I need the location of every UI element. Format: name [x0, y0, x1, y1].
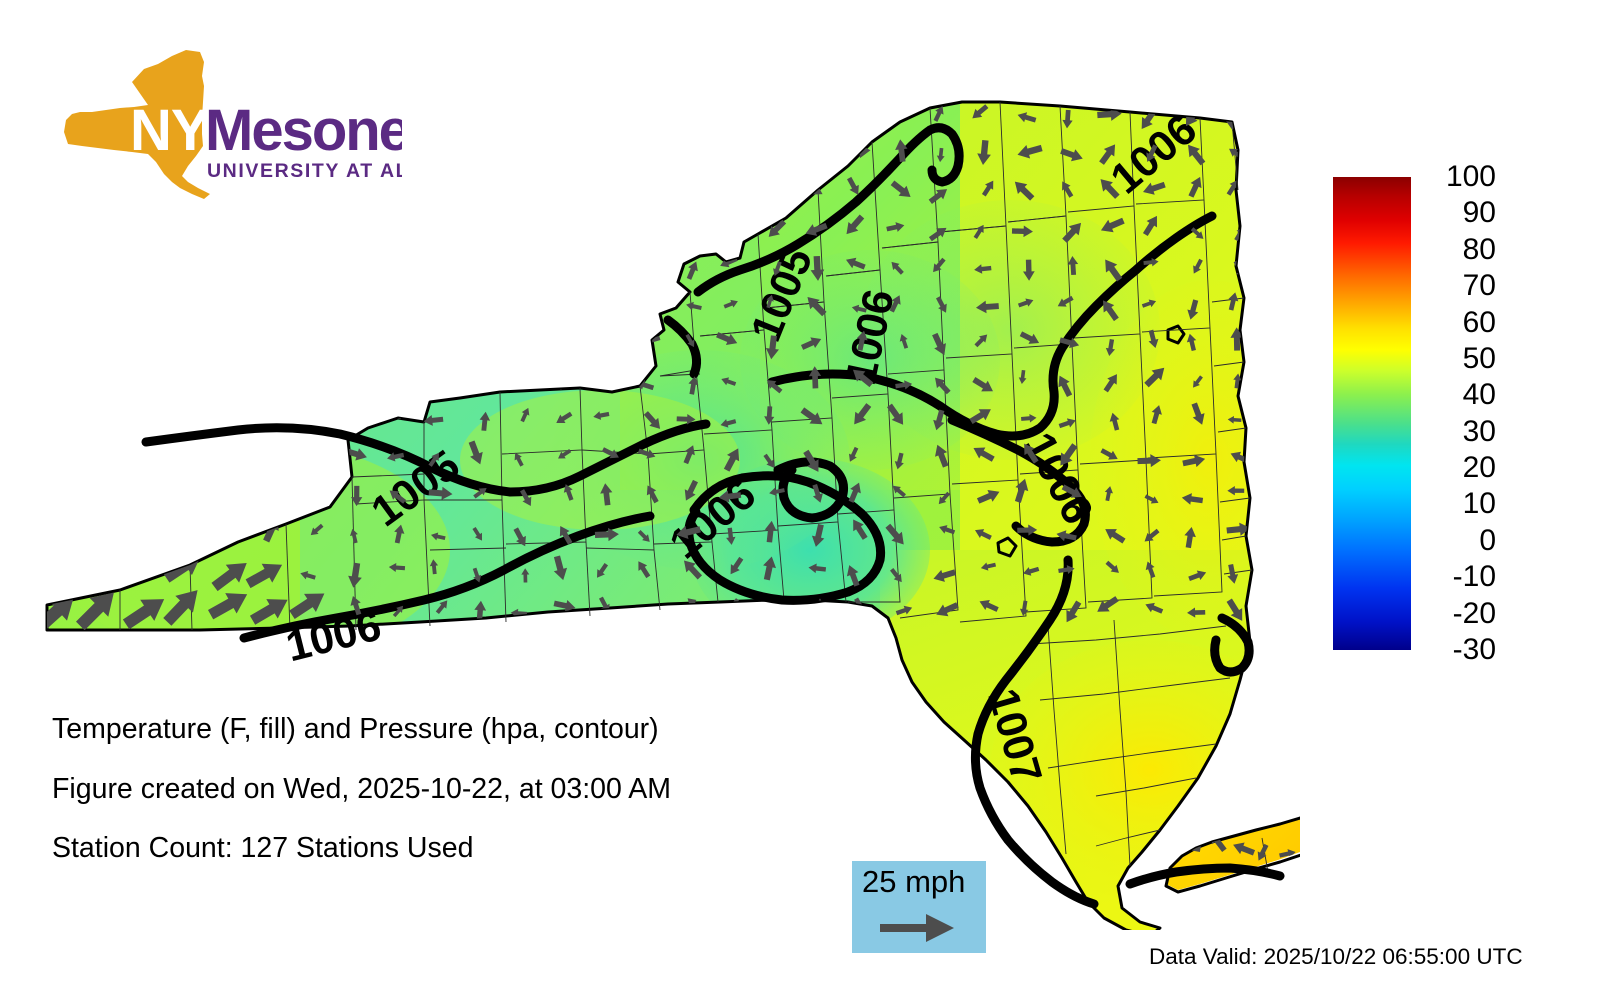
wind-arrow-icon	[216, 177, 237, 212]
wind-arrow-icon	[467, 291, 485, 309]
colorbar-tick: 10	[1422, 489, 1496, 519]
wind-arrow-icon	[92, 251, 118, 282]
wind-arrow-icon	[519, 179, 534, 203]
wind-arrow-icon	[719, 102, 739, 127]
caption-title-line: Temperature (F, fill) and Pressure (hpa,…	[52, 715, 832, 744]
wind-arrow-icon	[637, 147, 656, 160]
wind-arrow-icon	[257, 404, 283, 438]
wind-arrow-icon	[131, 212, 149, 240]
colorbar-tick: 40	[1422, 380, 1496, 410]
wind-arrow-icon	[81, 508, 125, 553]
wind-arrow-icon	[96, 441, 113, 467]
wind-arrow-icon	[170, 175, 194, 210]
wind-arrow-icon	[464, 366, 489, 391]
wind-arrow-icon	[212, 404, 234, 430]
wind-arrow-icon	[720, 148, 738, 164]
wind-arrow-icon	[518, 105, 533, 130]
wind-arrow-icon	[178, 479, 195, 504]
temperature-colorbar	[1333, 177, 1411, 650]
wind-arrow-icon	[596, 109, 610, 127]
wind-arrow-icon	[515, 219, 529, 238]
wind-arrow-icon	[220, 216, 238, 244]
wind-arrow-icon	[263, 478, 282, 503]
colorbar-tick: -20	[1422, 599, 1496, 629]
colorbar-tick: 80	[1422, 235, 1496, 265]
wind-arrow-icon	[647, 294, 656, 309]
wind-arrow-icon	[167, 100, 198, 136]
wind-arrow-icon	[341, 331, 359, 356]
wind-arrow-icon	[257, 443, 280, 476]
wind-arrow-icon	[168, 248, 197, 284]
wind-arrow-icon	[603, 295, 619, 313]
colorbar-tick: 60	[1422, 308, 1496, 338]
colorbar-tick: 0	[1422, 526, 1496, 556]
wind-arrow-icon	[176, 329, 201, 356]
wind-arrow-icon	[638, 182, 652, 202]
wind-arrow-icon	[806, 146, 829, 166]
wind-arrow-icon	[303, 330, 322, 355]
wind-arrow-icon	[638, 263, 656, 274]
wind-arrow-icon	[679, 108, 693, 125]
wind-arrow-icon	[135, 367, 156, 396]
wind-arrow-icon	[178, 364, 197, 396]
wind-arrow-icon	[346, 138, 366, 164]
wind-arrow-icon	[562, 107, 575, 126]
wind-arrow-icon	[88, 478, 108, 511]
data-valid-timestamp: Data Valid: 2025/10/22 06:55:00 UTC	[1149, 944, 1523, 970]
wind-arrow-icon	[216, 324, 241, 358]
wind-arrow-icon	[54, 482, 70, 509]
wind-arrow-icon	[428, 325, 452, 351]
wind-arrow-icon	[258, 288, 278, 321]
wind-arrow-icon	[599, 263, 622, 278]
wind-arrow-icon	[50, 328, 80, 361]
wind-arrow-icon	[300, 254, 325, 276]
wind-arrow-icon	[385, 220, 408, 237]
wind-arrow-icon	[433, 376, 444, 393]
wind-arrow-icon	[259, 169, 283, 204]
wind-arrow-icon	[90, 325, 107, 354]
wind-arrow-icon	[558, 332, 577, 344]
wind-arrow-icon	[43, 254, 66, 284]
wind-arrow-icon	[220, 365, 238, 390]
wind-arrow-icon	[47, 442, 67, 470]
colorbar-gradient	[1333, 177, 1411, 650]
wind-arrow-icon	[252, 96, 281, 130]
colorbar-tick: 90	[1422, 198, 1496, 228]
wind-arrow-icon	[91, 367, 108, 397]
wind-arrow-icon	[46, 216, 65, 246]
wind-arrow-icon	[602, 332, 619, 347]
wind-arrow-icon	[89, 296, 113, 323]
wind-arrow-icon	[177, 136, 198, 168]
wind-arrow-icon	[343, 292, 361, 311]
wind-arrow-icon	[847, 103, 863, 121]
wind-arrow-icon	[766, 104, 790, 126]
wind-arrow-icon	[304, 182, 315, 200]
wind-arrow-icon	[721, 219, 747, 242]
wind-arrow-icon	[351, 415, 362, 431]
wind-arrow-icon	[549, 150, 570, 164]
wind-arrow-icon	[552, 177, 577, 195]
colorbar-tick: -10	[1422, 562, 1496, 592]
wind-arrow-icon	[469, 106, 484, 124]
wind-arrow-icon	[43, 284, 77, 321]
wind-arrow-icon	[558, 289, 578, 313]
wind-arrow-icon	[252, 139, 280, 176]
wind-arrow-icon	[553, 255, 576, 270]
wind-arrow-icon	[469, 253, 488, 271]
wind-arrow-icon	[297, 488, 323, 508]
wind-arrow-icon	[429, 106, 442, 123]
wind-arrow-icon	[511, 369, 537, 385]
wind-arrow-icon	[172, 218, 196, 245]
wind-arrow-icon	[725, 178, 738, 199]
wind-arrow-icon	[593, 225, 611, 242]
wind-arrow-icon	[212, 248, 241, 281]
wind-arrow-icon	[634, 110, 656, 123]
wind-arrow-icon	[383, 370, 409, 393]
wind-arrow-icon	[32, 512, 78, 559]
wind-arrow-icon	[388, 251, 412, 276]
wind-arrow-icon	[684, 213, 701, 239]
wind-arrow-icon	[33, 550, 84, 600]
wind-arrow-icon	[294, 442, 320, 466]
wind-arrow-icon	[299, 142, 319, 159]
wind-reference-arrow-icon	[880, 911, 960, 945]
colorbar-tick-labels: 1009080706050403020100-10-20-30	[1422, 163, 1512, 673]
wind-arrow-icon	[341, 264, 360, 275]
wind-arrow-icon	[87, 176, 107, 204]
wind-arrow-icon	[472, 335, 485, 356]
wind-arrow-icon	[53, 398, 77, 431]
colorbar-tick: 70	[1422, 271, 1496, 301]
wind-arrow-icon	[383, 142, 401, 163]
wind-speed-legend-label: 25 mph	[862, 865, 965, 899]
wind-arrow-icon	[762, 183, 785, 199]
figure-caption: Temperature (F, fill) and Pressure (hpa,…	[52, 715, 832, 894]
caption-created-line: Figure created on Wed, 2025-10-22, at 03…	[52, 775, 832, 804]
wind-arrow-icon	[179, 292, 201, 321]
wind-arrow-icon	[392, 108, 411, 124]
wind-arrow-icon	[342, 222, 366, 243]
wind-arrow-icon	[599, 149, 611, 167]
wind-arrow-icon	[633, 222, 652, 240]
wind-arrow-icon	[214, 100, 234, 131]
caption-station-count-line: Station Count: 127 Stations Used	[52, 834, 832, 863]
wind-arrow-icon	[307, 106, 327, 131]
wind-arrow-icon	[88, 400, 111, 430]
wind-arrow-icon	[131, 174, 161, 212]
wind-arrow-icon	[214, 439, 240, 467]
wind-arrow-icon	[475, 182, 487, 202]
wind-arrow-icon	[134, 329, 162, 363]
wind-arrow-icon	[55, 176, 71, 205]
wind-arrow-icon	[303, 370, 322, 386]
wind-arrow-icon	[685, 174, 699, 199]
colorbar-tick: 20	[1422, 453, 1496, 483]
wind-arrow-icon	[506, 255, 531, 278]
wind-arrow-icon	[347, 181, 359, 202]
wind-arrow-icon	[56, 370, 73, 400]
wind-arrow-icon	[92, 107, 109, 133]
wind-arrow-icon	[135, 289, 159, 326]
wind-arrow-icon	[263, 216, 276, 238]
wind-arrow-icon	[121, 518, 167, 557]
wind-arrow-icon	[215, 141, 239, 168]
wind-arrow-icon	[161, 517, 206, 557]
wind-arrow-icon	[345, 99, 367, 122]
wind-arrow-icon	[591, 371, 614, 388]
wind-arrow-icon	[427, 146, 445, 158]
wind-arrow-icon	[469, 216, 486, 232]
wind-arrow-icon	[596, 178, 614, 203]
wind-arrow-icon	[423, 296, 450, 315]
colorbar-tick: 100	[1422, 162, 1496, 192]
wind-arrow-icon	[762, 602, 779, 614]
wind-arrow-icon	[134, 101, 149, 128]
wind-arrow-icon	[48, 93, 79, 129]
wind-arrow-icon	[132, 479, 157, 510]
wind-arrow-icon	[216, 477, 245, 513]
wind-arrow-icon	[432, 181, 446, 201]
wind-arrow-icon	[262, 327, 279, 353]
wind-arrow-icon	[759, 139, 780, 160]
wind-arrow-icon	[428, 224, 448, 238]
wind-arrow-icon	[130, 253, 157, 287]
wind-arrow-icon	[425, 259, 448, 273]
wind-arrow-icon	[94, 211, 115, 239]
wind-arrow-icon	[305, 402, 324, 426]
wind-arrow-icon	[344, 371, 369, 392]
wind-arrow-icon	[300, 298, 321, 312]
wind-arrow-icon	[681, 143, 702, 157]
colorbar-tick: -30	[1422, 635, 1496, 665]
wind-arrow-icon	[465, 144, 490, 160]
wind-arrow-icon	[551, 227, 576, 241]
colorbar-tick: 50	[1422, 344, 1496, 374]
wind-arrow-icon	[1157, 829, 1181, 857]
wind-arrow-icon	[515, 292, 528, 310]
wind-arrow-icon	[392, 330, 409, 346]
wind-arrow-icon	[513, 336, 526, 354]
wind-arrow-icon	[392, 301, 401, 317]
wind-arrow-icon	[392, 181, 410, 195]
wind-arrow-icon	[254, 254, 282, 285]
wind-arrow-icon	[47, 137, 76, 172]
colorbar-tick: 30	[1422, 417, 1496, 447]
wind-arrow-icon	[136, 400, 156, 431]
wind-arrow-icon	[132, 141, 154, 169]
wind-arrow-icon	[643, 607, 661, 621]
wind-arrow-icon	[812, 109, 829, 130]
wind-arrow-icon	[299, 222, 320, 236]
wind-speed-legend: 25 mph	[852, 861, 986, 953]
wind-arrow-icon	[85, 139, 116, 174]
wind-arrow-icon	[262, 371, 276, 395]
wind-arrow-icon	[216, 290, 248, 326]
wind-arrow-icon	[512, 141, 531, 168]
